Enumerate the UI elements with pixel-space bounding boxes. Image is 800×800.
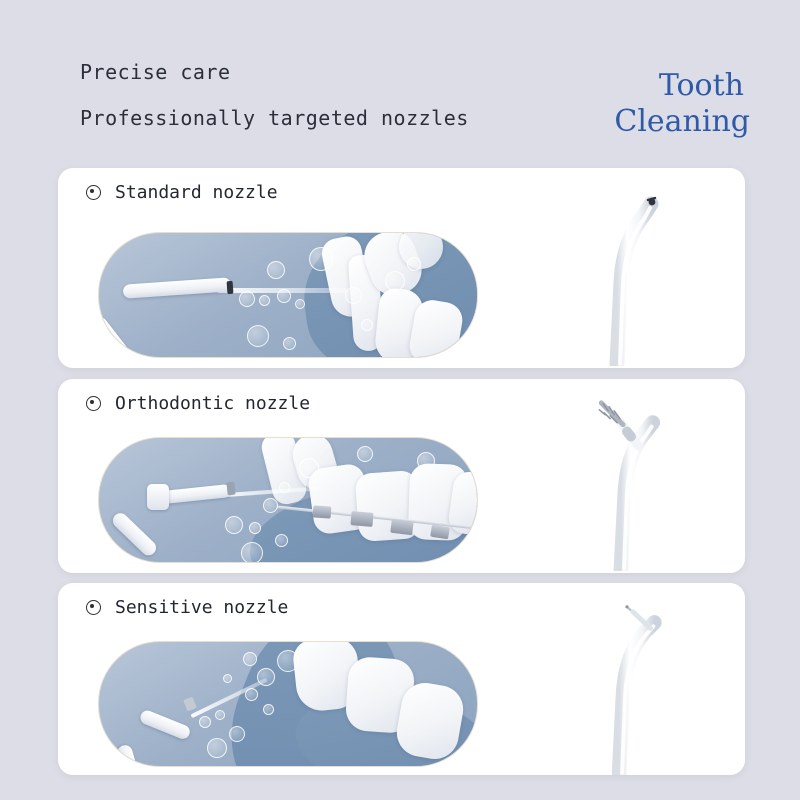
brand-title-line-2: Cleaning [490, 104, 750, 140]
double-circle-icon [86, 396, 101, 411]
card-label-sensitive: Sensitive nozzle [86, 597, 288, 618]
double-circle-icon [86, 185, 101, 200]
card-label-text: Orthodontic nozzle [115, 393, 310, 414]
page-header: Precise care Professionally targeted noz… [0, 0, 800, 160]
nozzle-card-sensitive[interactable]: Sensitive nozzle [58, 583, 745, 775]
headline-primary: Precise care [80, 60, 231, 84]
nozzle-illustration-orthodontic [565, 393, 685, 571]
double-circle-icon [86, 600, 101, 615]
nozzle-card-standard[interactable]: Standard nozzle [58, 168, 745, 368]
headline-secondary: Professionally targeted nozzles [80, 106, 469, 130]
card-label-orthodontic: Orthodontic nozzle [86, 393, 310, 414]
card-label-text: Sensitive nozzle [115, 597, 288, 618]
nozzle-illustration-sensitive [565, 599, 685, 775]
nozzle-card-orthodontic[interactable]: Orthodontic nozzle [58, 379, 745, 573]
card-label-text: Standard nozzle [115, 182, 278, 203]
photo-standard-nozzle [98, 232, 478, 358]
card-label-standard: Standard nozzle [86, 182, 278, 203]
photo-sensitive-nozzle [98, 641, 478, 767]
brand-title: Tooth Cleaning [490, 68, 750, 140]
photo-orthodontic-nozzle [98, 437, 478, 563]
brand-title-line-1: Tooth [490, 68, 750, 104]
nozzle-illustration-standard [565, 186, 685, 366]
